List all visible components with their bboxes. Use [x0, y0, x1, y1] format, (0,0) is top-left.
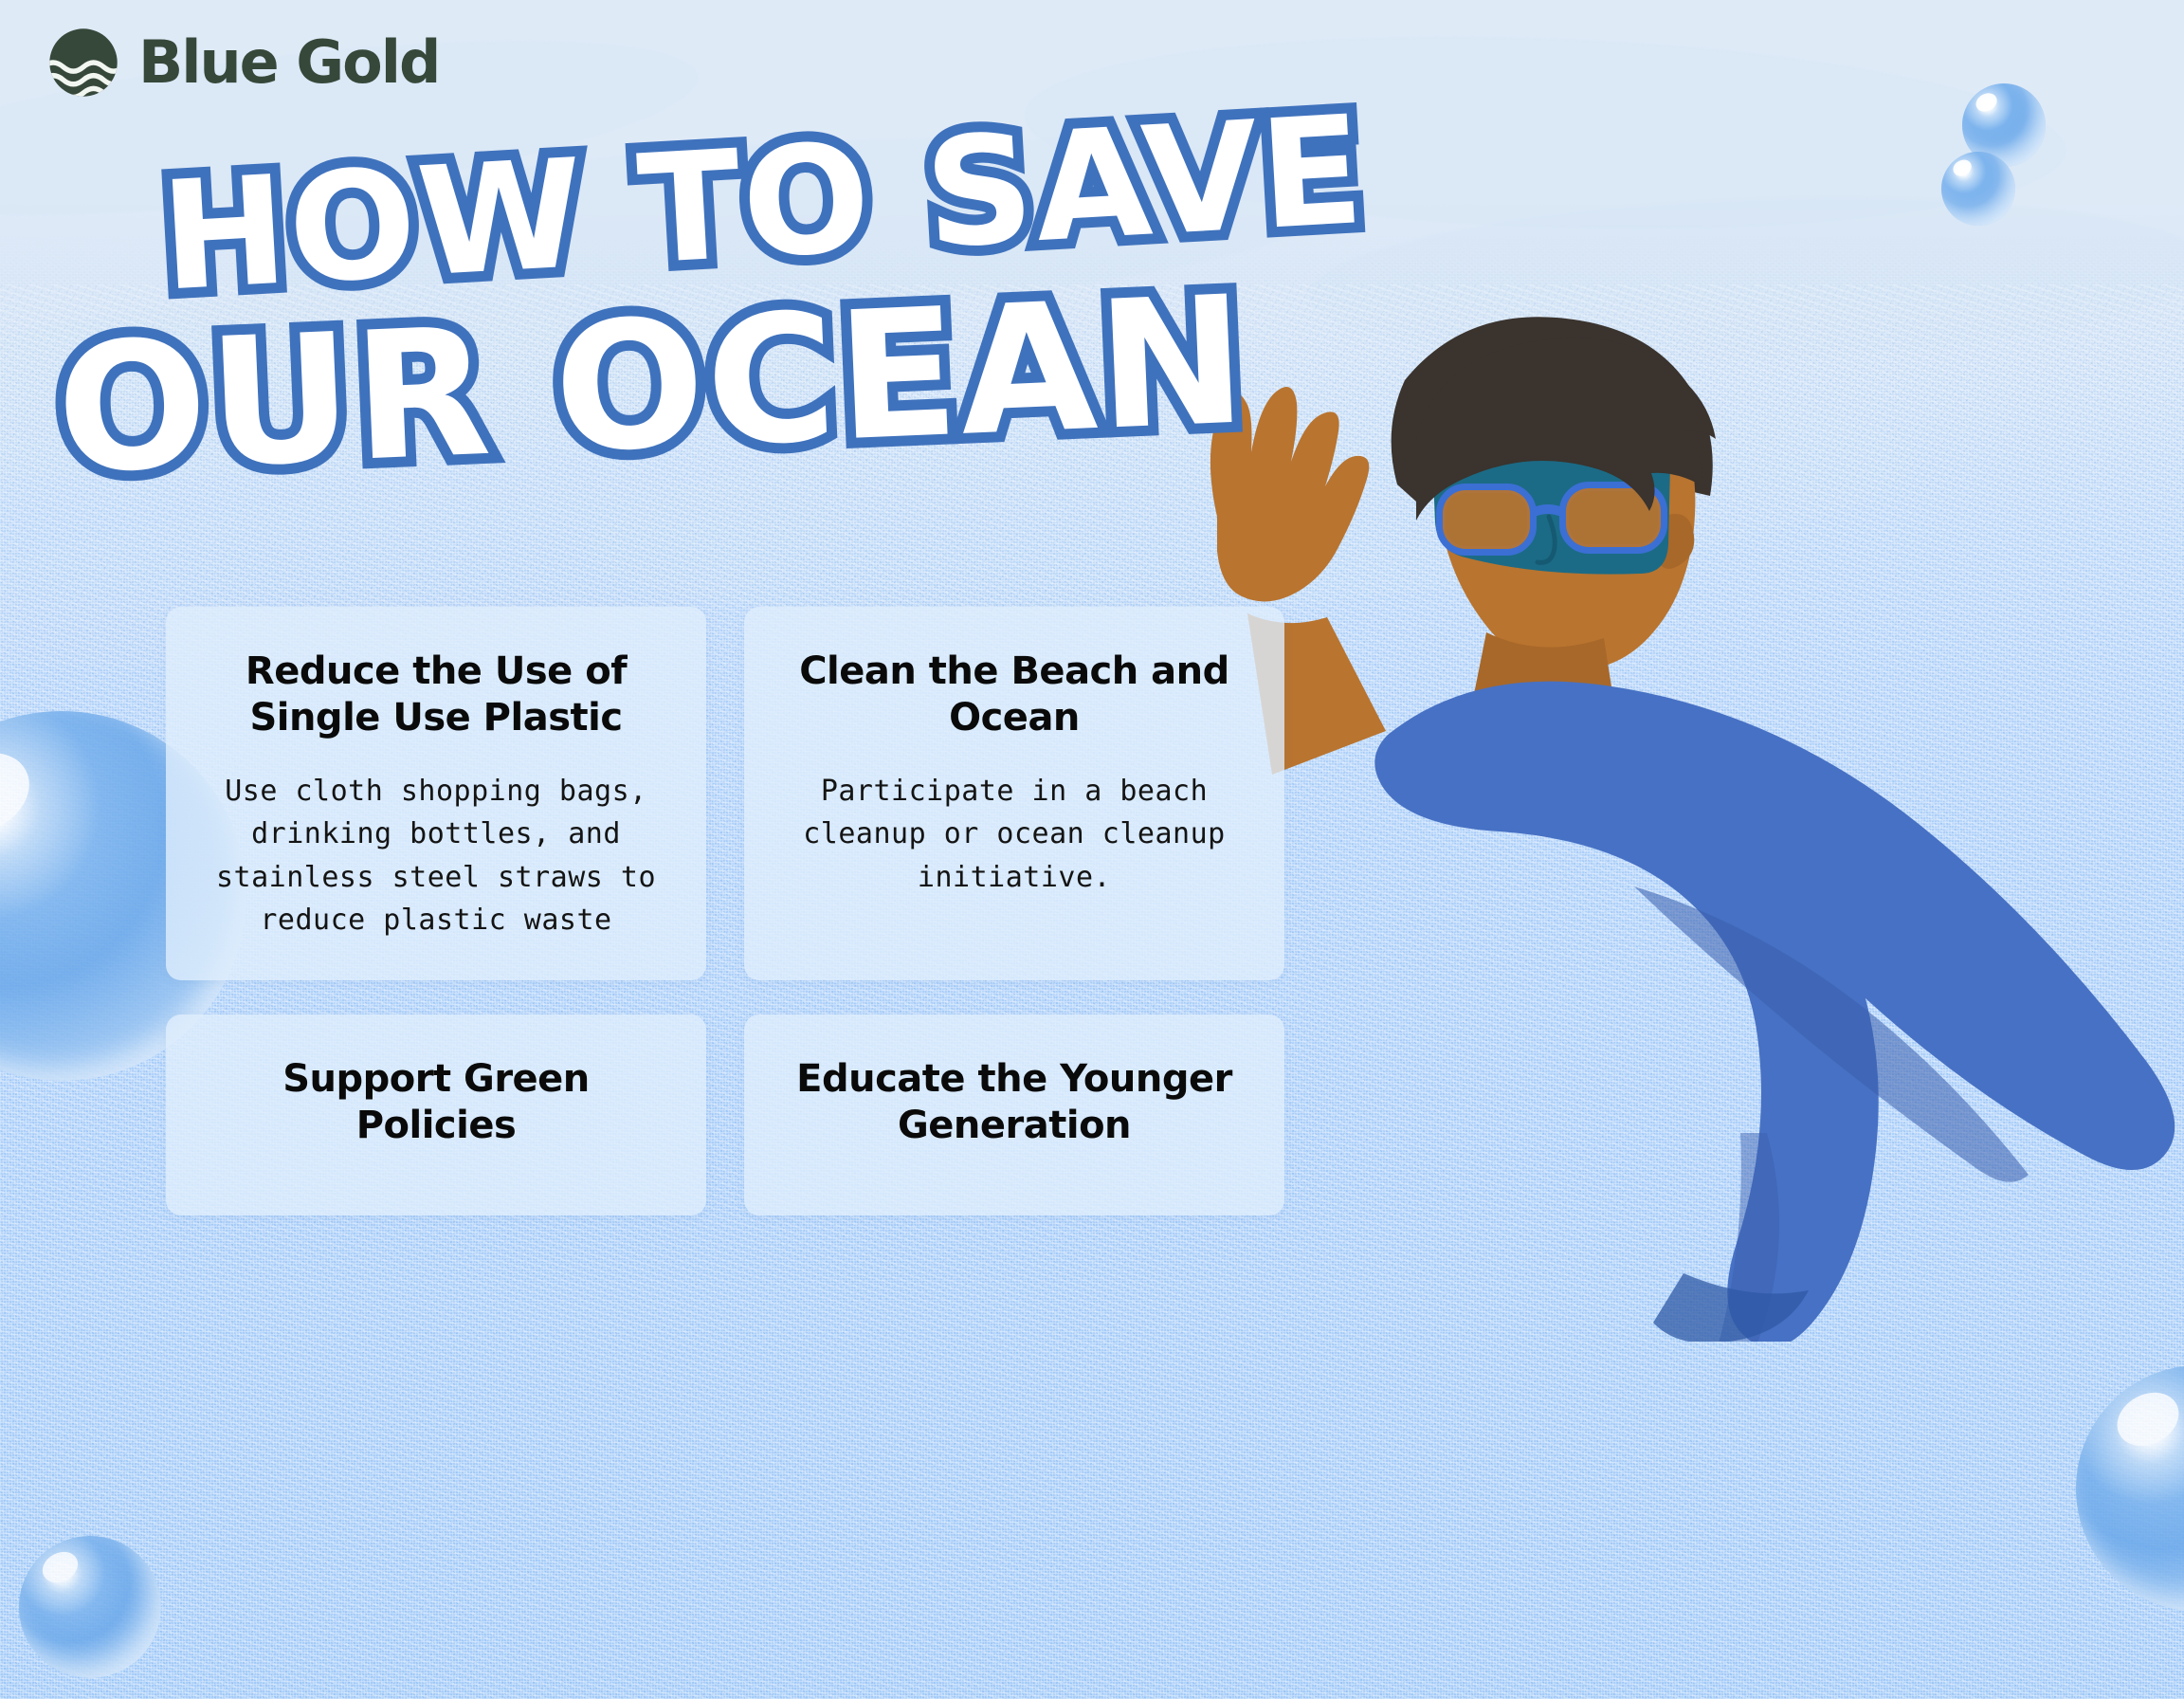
tips-card-grid: Reduce the Use of Single Use Plastic Use…: [166, 607, 2052, 1215]
card-title: Educate the Younger Generation: [776, 1056, 1252, 1149]
brand-logo[interactable]: Blue Gold: [47, 27, 439, 99]
title-line-2: OUR OCEAN: [54, 284, 1140, 492]
card-support-green-policies[interactable]: Support Green Policies: [166, 1014, 706, 1215]
card-body: Participate in a beach cleanup or ocean …: [776, 770, 1252, 900]
card-clean-beach-and-ocean[interactable]: Clean the Beach and Ocean Participate in…: [744, 607, 1284, 980]
card-educate-younger-generation[interactable]: Educate the Younger Generation: [744, 1014, 1284, 1215]
infographic-poster: Blue Gold: [0, 0, 2184, 1699]
card-title: Clean the Beach and Ocean: [776, 649, 1252, 741]
card-title: Reduce the Use of Single Use Plastic: [198, 649, 674, 741]
card-body: Use cloth shopping bags, drinking bottle…: [198, 770, 674, 942]
card-reduce-single-use-plastic[interactable]: Reduce the Use of Single Use Plastic Use…: [166, 607, 706, 980]
brand-name: Blue Gold: [138, 33, 439, 92]
ocean-waves-circle-icon: [47, 27, 119, 99]
poster-title: HOW TO SAVE OUR OCEAN: [0, 142, 1137, 468]
card-title: Support Green Policies: [198, 1056, 674, 1149]
bubble-left-small: [19, 1536, 161, 1678]
